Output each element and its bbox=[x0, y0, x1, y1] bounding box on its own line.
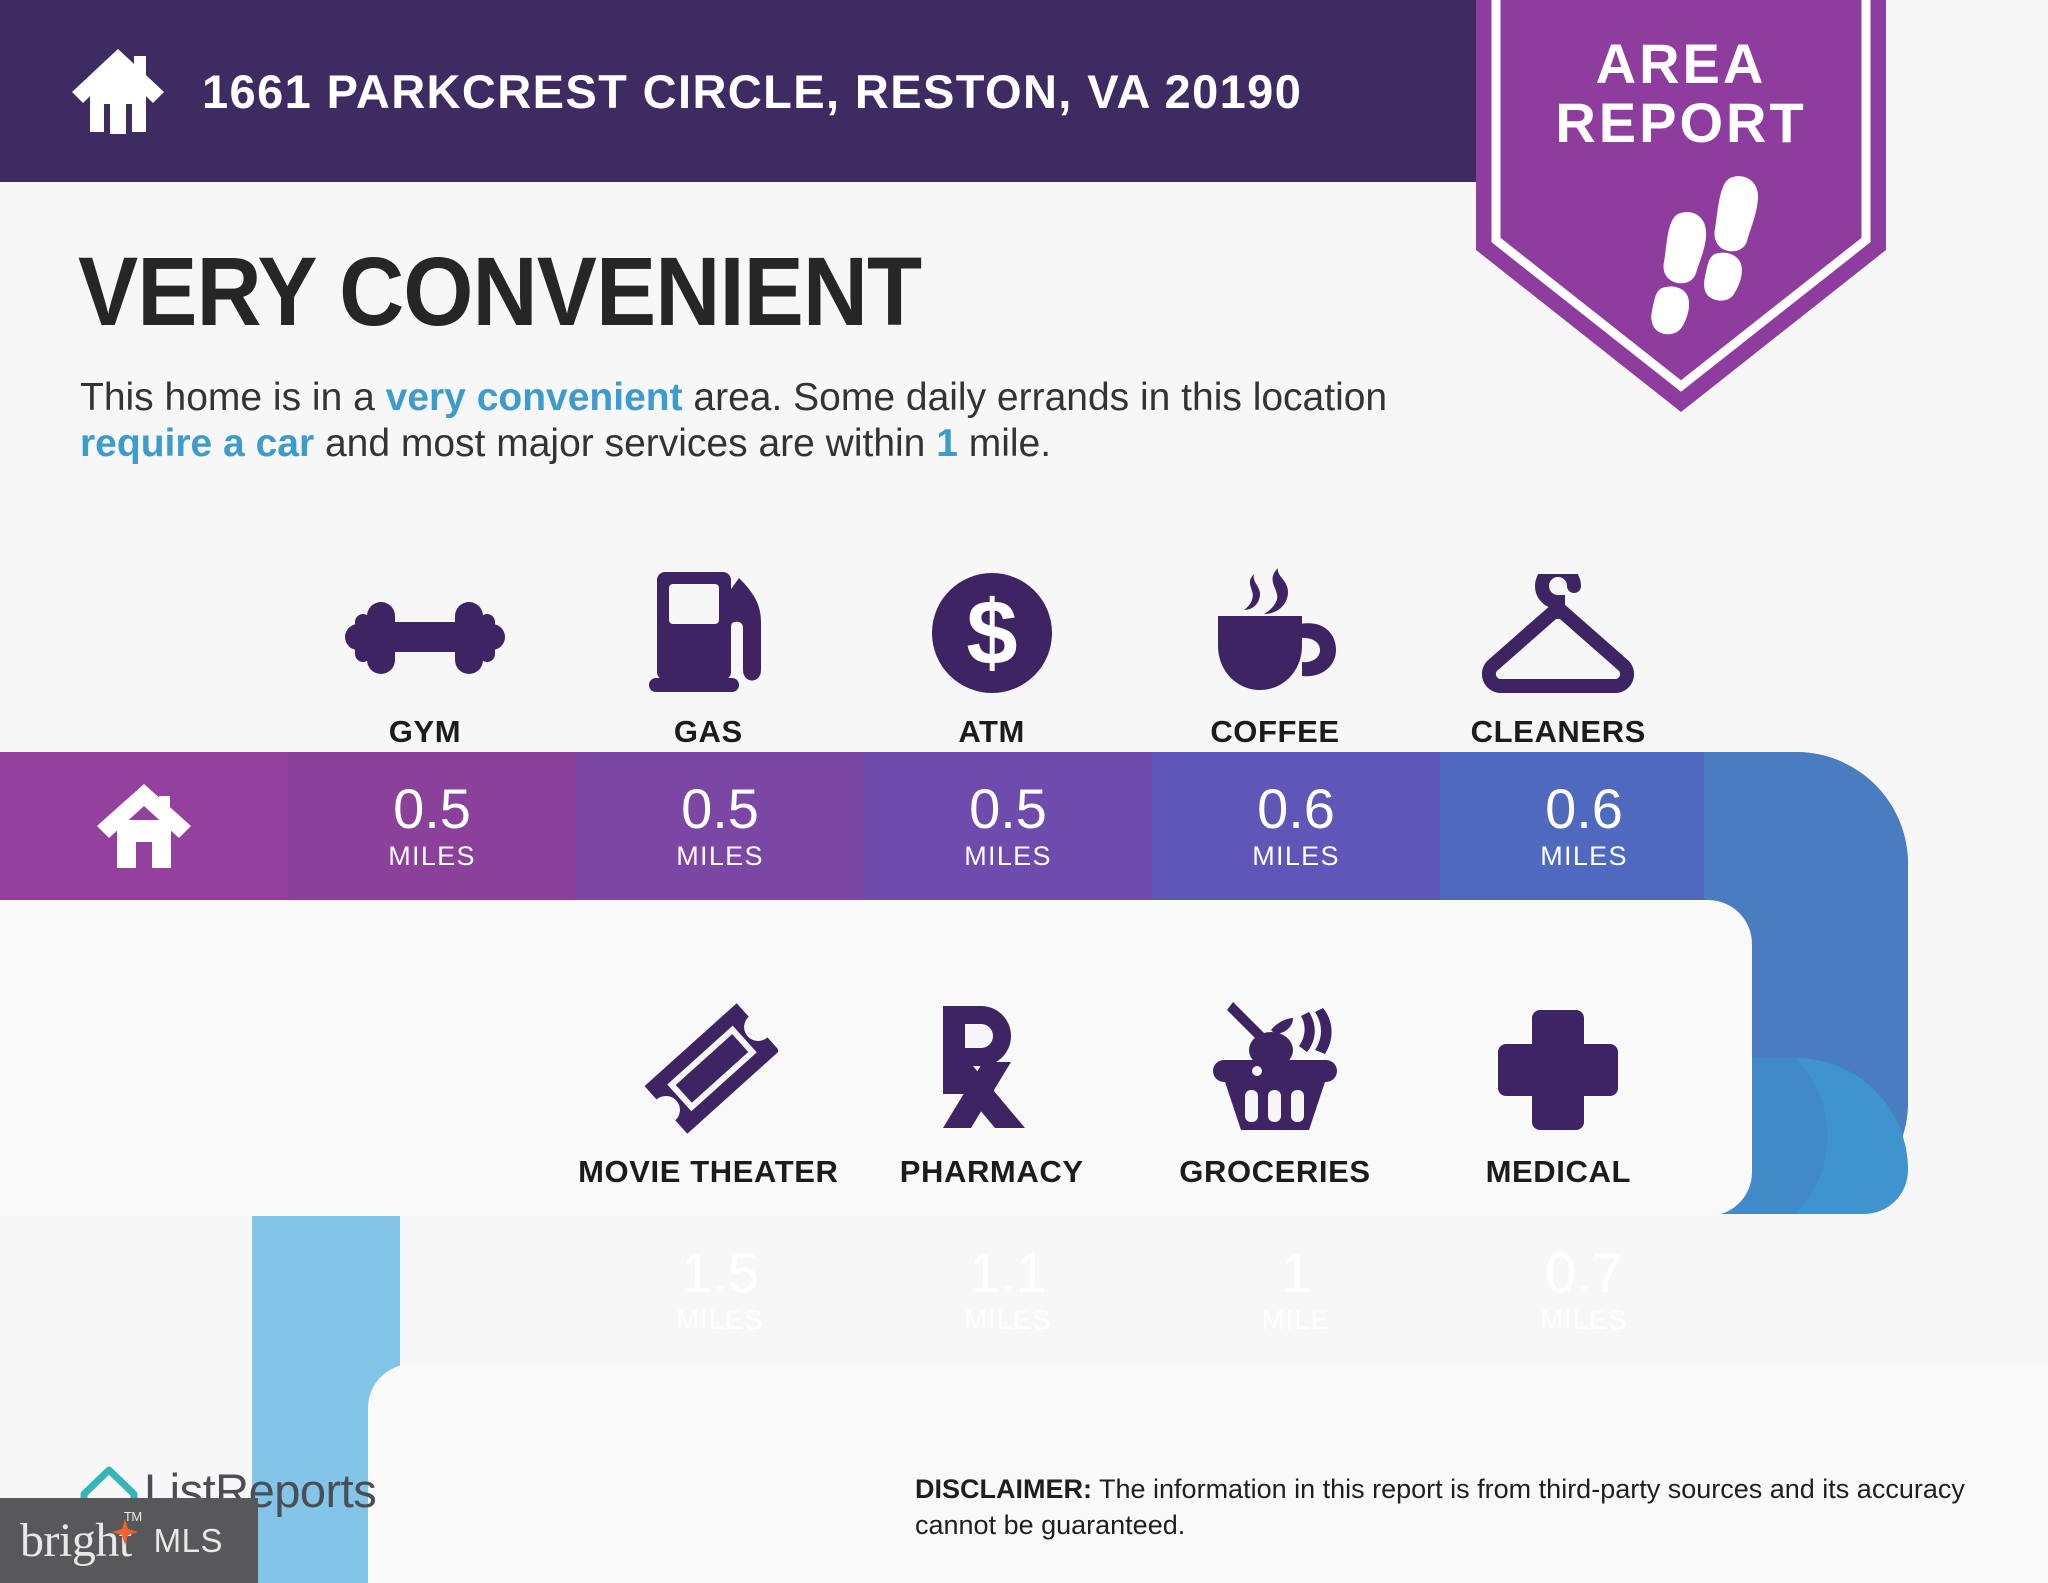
amenity-pharmacy: PHARMACY bbox=[850, 960, 1133, 1190]
distance-unit: MILES bbox=[1540, 841, 1628, 872]
amenity-gas: GAS bbox=[567, 540, 850, 750]
amenity-atm: $ ATM bbox=[850, 540, 1133, 750]
amenity-label: GYM bbox=[389, 714, 461, 750]
distance-unit: MILES bbox=[1540, 1305, 1628, 1336]
amenity-gym: GYM bbox=[283, 540, 566, 750]
distance-unit: MILES bbox=[388, 841, 476, 872]
trademark-symbol: TM bbox=[124, 1509, 142, 1524]
distance-value: 0.6 bbox=[1257, 781, 1335, 837]
summary-part-1: This home is in a bbox=[80, 376, 386, 419]
amenity-label: MOVIE THEATER bbox=[578, 1154, 838, 1190]
disclaimer-label: DISCLAIMER: bbox=[915, 1474, 1092, 1504]
distance-cell: 0.5 MILES bbox=[288, 752, 576, 900]
dollar-circle-icon: $ bbox=[931, 566, 1053, 694]
spacer-cell-2 bbox=[288, 1216, 576, 1364]
summary-part-2: area. Some daily errands in this locatio… bbox=[683, 376, 1388, 419]
amenity-movie-theater: MOVIE THEATER bbox=[567, 960, 850, 1190]
amenity-label: GROCERIES bbox=[1179, 1154, 1370, 1190]
movie-ticket-icon bbox=[638, 1006, 778, 1134]
summary-highlight-1: very convenient bbox=[386, 376, 683, 419]
summary-part-4: mile. bbox=[958, 422, 1051, 465]
distance-cell: 0.7 MILES bbox=[1440, 1216, 1728, 1364]
amenity-label: MEDICAL bbox=[1486, 1154, 1631, 1190]
house-icon bbox=[97, 782, 191, 870]
medical-cross-icon bbox=[1494, 1006, 1622, 1134]
distance-unit: MILES bbox=[1252, 841, 1340, 872]
distance-value: 0.7 bbox=[1545, 1245, 1623, 1301]
house-icon bbox=[72, 48, 164, 134]
distance-cell: 0.5 MILES bbox=[576, 752, 864, 900]
distance-value: 0.5 bbox=[393, 781, 471, 837]
distance-value: 1.1 bbox=[969, 1245, 1047, 1301]
distance-unit: MILES bbox=[964, 1305, 1052, 1336]
amenity-icons-row-1: GYM GAS $ ATM bbox=[0, 540, 1700, 750]
gas-pump-icon bbox=[643, 566, 773, 694]
spacer-cell bbox=[0, 960, 283, 1190]
page-title: VERY CONVENIENT bbox=[78, 236, 921, 348]
amenity-cleaners: CLEANERS bbox=[1417, 540, 1700, 750]
spacer-cell bbox=[0, 1216, 288, 1364]
amenity-label: CLEANERS bbox=[1471, 714, 1646, 750]
bright-mls-watermark: bright TM MLS bbox=[0, 1498, 258, 1583]
distance-value: 0.5 bbox=[969, 781, 1047, 837]
rx-icon bbox=[931, 1006, 1053, 1134]
distance-unit: MILE bbox=[1262, 1305, 1330, 1336]
mls-text: MLS bbox=[154, 1522, 223, 1560]
spacer-cell bbox=[0, 540, 283, 750]
amenity-label: COFFEE bbox=[1210, 714, 1339, 750]
distance-unit: MILES bbox=[964, 841, 1052, 872]
amenity-label: PHARMACY bbox=[900, 1154, 1084, 1190]
coffee-cup-icon bbox=[1208, 566, 1342, 694]
dumbbell-icon bbox=[337, 566, 513, 694]
hanger-icon bbox=[1474, 566, 1642, 694]
summary-part-3: and most major services are within bbox=[314, 422, 936, 465]
property-address: 1661 PARKCREST CIRCLE, RESTON, VA 20190 bbox=[202, 64, 1302, 119]
amenity-medical: MEDICAL bbox=[1417, 960, 1700, 1190]
summary-highlight-2: require a car bbox=[80, 422, 314, 465]
distance-unit: MILES bbox=[676, 1305, 764, 1336]
distance-cell: 1 MILE bbox=[1152, 1216, 1440, 1364]
summary-text: This home is in a very convenient area. … bbox=[80, 375, 1480, 467]
distance-row-2: 1.5 MILES 1.1 MILES 1 MILE 0.7 MILES bbox=[0, 1216, 1728, 1364]
spacer-cell-2 bbox=[283, 960, 566, 1190]
home-marker bbox=[0, 752, 288, 900]
distance-value: 1 bbox=[1280, 1245, 1311, 1301]
distance-cell: 1.5 MILES bbox=[576, 1216, 864, 1364]
distance-value: 0.6 bbox=[1545, 781, 1623, 837]
distance-value: 1.5 bbox=[681, 1245, 759, 1301]
bright-wordmark: bright TM bbox=[20, 1513, 132, 1568]
summary-highlight-3: 1 bbox=[936, 422, 958, 465]
distance-cell: 0.6 MILES bbox=[1152, 752, 1440, 900]
distance-cell: 0.6 MILES bbox=[1440, 752, 1728, 900]
distance-row-1: 0.5 MILES 0.5 MILES 0.5 MILES 0.6 MILES … bbox=[0, 752, 1728, 900]
header-bar: 1661 PARKCREST CIRCLE, RESTON, VA 20190 bbox=[0, 0, 1480, 182]
distance-cell: 1.1 MILES bbox=[864, 1216, 1152, 1364]
distance-cell: 0.5 MILES bbox=[864, 752, 1152, 900]
distance-value: 0.5 bbox=[681, 781, 759, 837]
amenity-label: GAS bbox=[674, 714, 743, 750]
svg-text:$: $ bbox=[966, 582, 1017, 684]
amenity-icons-row-2: MOVIE THEATER PHARMACY bbox=[0, 960, 1700, 1190]
amenity-coffee: COFFEE bbox=[1133, 540, 1416, 750]
area-report-badge: AREA REPORT bbox=[1466, 0, 1896, 422]
disclaimer: DISCLAIMER: The information in this repo… bbox=[915, 1472, 1975, 1543]
distance-unit: MILES bbox=[676, 841, 764, 872]
amenity-groceries: GROCERIES bbox=[1133, 960, 1416, 1190]
grocery-basket-icon bbox=[1205, 1006, 1345, 1134]
amenity-label: ATM bbox=[958, 714, 1025, 750]
